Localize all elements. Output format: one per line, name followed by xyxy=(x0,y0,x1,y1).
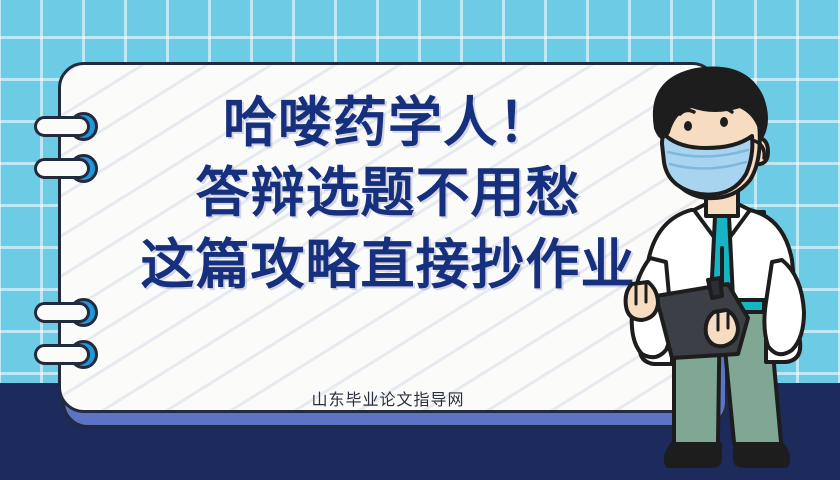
binding-ring-3 xyxy=(34,302,98,324)
ring-bar-icon xyxy=(34,302,90,323)
ring-bar-icon xyxy=(34,344,90,365)
binding-ring-1 xyxy=(34,116,98,138)
eye-left xyxy=(684,121,692,131)
clipboard-clip xyxy=(708,278,722,298)
ring-bar-icon xyxy=(34,158,90,179)
coat-sleeve-right xyxy=(764,260,804,354)
hand-left xyxy=(626,282,658,320)
hand-right xyxy=(706,310,738,346)
binding-ring-4 xyxy=(34,344,98,366)
shoe-right xyxy=(735,444,788,466)
shoe-left xyxy=(666,444,720,466)
ring-bar-icon xyxy=(34,116,90,137)
pharmacist-illustration xyxy=(596,62,840,480)
binding-ring-2 xyxy=(34,158,98,180)
poster-canvas: 哈喽药学人！ 答辩选题不用愁 这篇攻略直接抄作业 山东毕业论文指导网 xyxy=(0,0,840,480)
eye-right xyxy=(720,117,728,127)
